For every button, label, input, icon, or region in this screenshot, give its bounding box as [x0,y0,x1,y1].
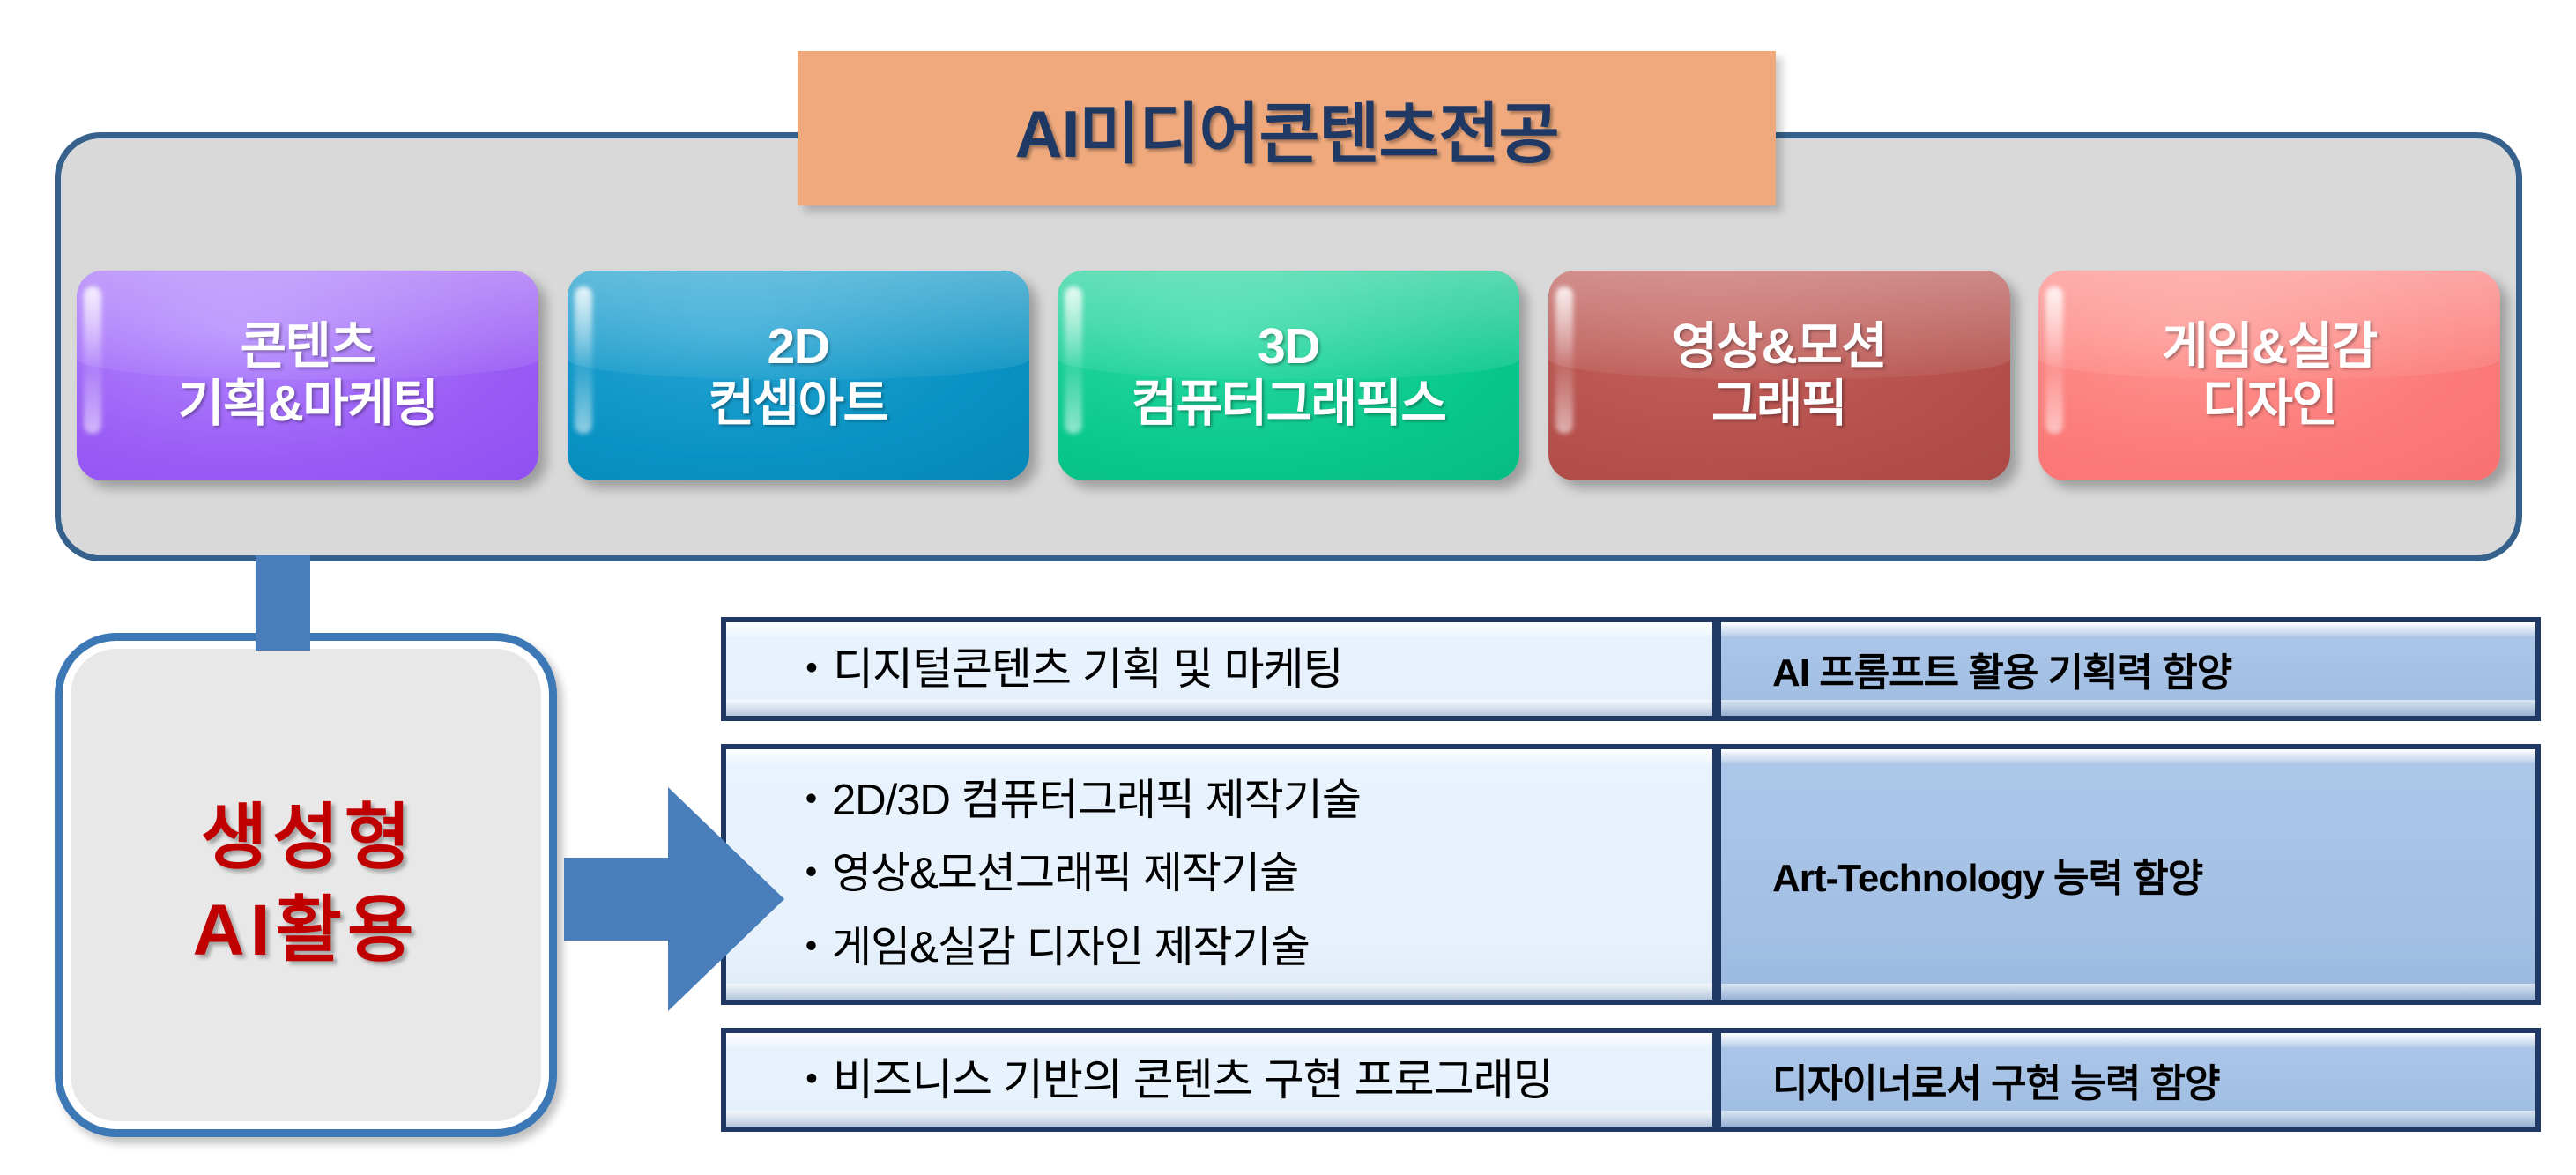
table-row: ・비즈니스 기반의 콘텐츠 구현 프로그래밍 디자이너로서 구현 능력 함양 [721,1028,2541,1132]
competency-cell: AI 프롬프트 활용 기획력 함양 [1717,617,2541,721]
track-game-immersive-design[interactable]: 게임&실감 디자인 [2038,271,2500,480]
table-row: ・2D/3D 컴퓨터그래픽 제작기술 ・영상&모션그래픽 제작기술 ・게임&실감… [721,744,2541,1005]
generative-ai-label: 생성형 AI활용 [193,792,419,978]
topics-text: ・비즈니스 기반의 콘텐츠 구현 프로그래밍 [726,1045,1553,1116]
generative-ai-box: 생성형 AI활용 [55,633,557,1137]
vertical-connector [256,555,310,651]
topics-cell: ・비즈니스 기반의 콘텐츠 구현 프로그래밍 [721,1028,1717,1132]
track-label: 3D 컴퓨터그래픽스 [1132,318,1446,433]
competency-text: AI 프롬프트 활용 기획력 함양 [1721,641,2231,697]
major-title-text: AI미디어콘텐츠전공 [1014,80,1558,176]
topics-cell: ・2D/3D 컴퓨터그래픽 제작기술 ・영상&모션그래픽 제작기술 ・게임&실감… [721,744,1717,1005]
topics-text: ・2D/3D 컴퓨터그래픽 제작기술 ・영상&모션그래픽 제작기술 ・게임&실감… [726,764,1361,985]
track-video-motion-graphics[interactable]: 영상&모션 그래픽 [1548,271,2010,480]
track-row: 콘텐츠 기획&마케팅 2D 컨셉아트 3D 컴퓨터그래픽스 영상&모션 그래픽 … [61,271,2516,482]
diagram-canvas: 콘텐츠 기획&마케팅 2D 컨셉아트 3D 컴퓨터그래픽스 영상&모션 그래픽 … [0,0,2576,1175]
table-row: ・디지털콘텐츠 기획 및 마케팅 AI 프롬프트 활용 기획력 함양 [721,617,2541,721]
right-arrow-icon [564,780,784,1018]
track-3d-computer-graphics[interactable]: 3D 컴퓨터그래픽스 [1058,271,1519,480]
competency-text: Art-Technology 능력 함양 [1721,846,2202,903]
track-label: 콘텐츠 기획&마케팅 [178,318,437,433]
topics-text: ・디지털콘텐츠 기획 및 마케팅 [726,634,1343,705]
competency-text: 디자이너로서 구현 능력 함양 [1721,1052,2219,1108]
track-2d-concept-art[interactable]: 2D 컨셉아트 [568,271,1029,480]
track-label: 영상&모션 그래픽 [1672,318,1886,433]
topics-cell: ・디지털콘텐츠 기획 및 마케팅 [721,617,1717,721]
outcome-table: ・디지털콘텐츠 기획 및 마케팅 AI 프롬프트 활용 기획력 함양 ・2D/3… [721,617,2541,1132]
track-content-planning-marketing[interactable]: 콘텐츠 기획&마케팅 [77,271,538,480]
competency-cell: 디자이너로서 구현 능력 함양 [1717,1028,2541,1132]
track-label: 게임&실감 디자인 [2162,318,2376,433]
competency-cell: Art-Technology 능력 함양 [1717,744,2541,1005]
track-label: 2D 컨셉아트 [709,318,888,433]
major-title-banner: AI미디어콘텐츠전공 [798,51,1776,205]
